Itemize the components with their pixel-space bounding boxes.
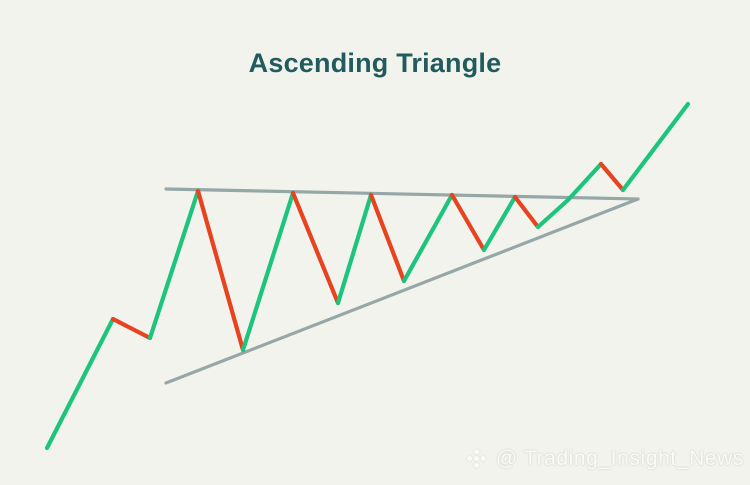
price-segment-5	[293, 193, 338, 303]
price-segment-3	[198, 191, 243, 350]
price-segment-10	[484, 197, 515, 250]
price-path-group	[47, 104, 688, 448]
price-segment-6	[338, 195, 371, 303]
ascending-triangle-plot	[0, 0, 750, 485]
price-segment-2	[150, 191, 198, 338]
trendline-group	[166, 189, 638, 383]
price-segment-14	[601, 164, 623, 190]
price-segment-1	[113, 319, 150, 338]
price-segment-15	[623, 104, 688, 190]
price-segment-12	[538, 200, 568, 227]
resistance-trendline	[166, 189, 638, 199]
price-segment-13	[568, 164, 601, 200]
price-segment-8	[404, 195, 452, 281]
binance-diamond-icon	[464, 446, 489, 471]
watermark: @ Trading_Insight_News	[464, 446, 744, 471]
watermark-handle: @ Trading_Insight_News	[496, 447, 744, 471]
chart-canvas: Ascending Triangle @ Trading_Insight_New…	[0, 0, 750, 485]
price-segment-7	[371, 195, 404, 281]
price-segment-9	[452, 195, 484, 250]
support-trendline	[166, 199, 638, 383]
price-segment-4	[243, 193, 293, 350]
price-segment-11	[515, 197, 538, 227]
price-segment-0	[47, 319, 113, 448]
